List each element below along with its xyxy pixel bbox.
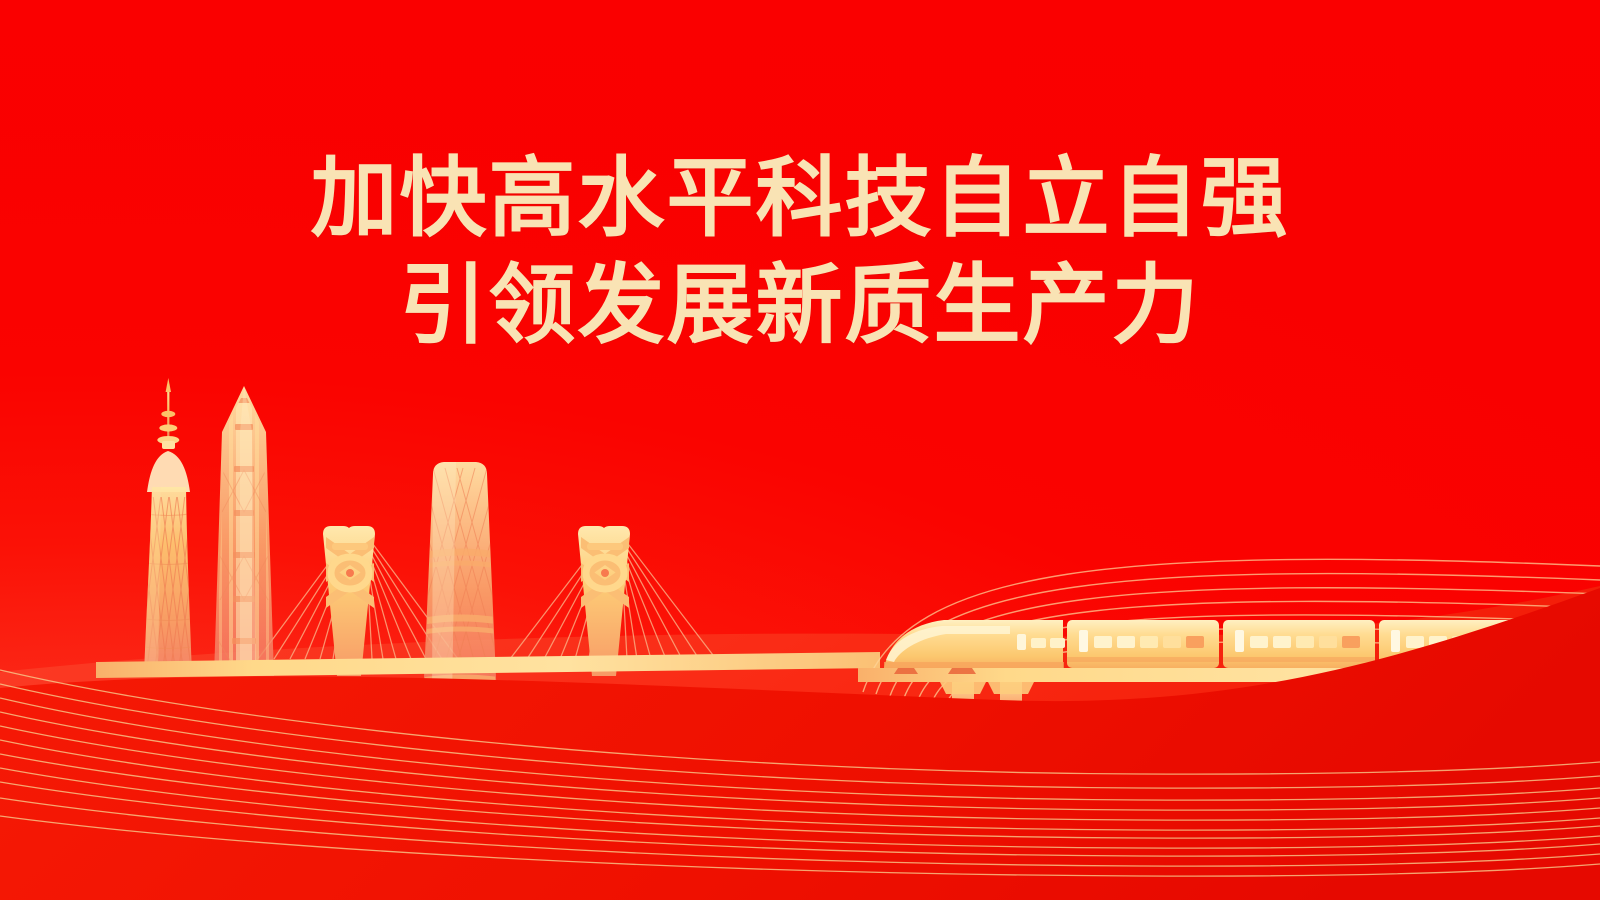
poster-canvas: 加快高水平科技自立自强 引领发展新质生产力 [0, 0, 1600, 900]
ping-an-tower [214, 386, 274, 684]
train-bogie [894, 668, 918, 674]
scene-illustration [0, 0, 1600, 900]
canton-tower-highlight [144, 487, 161, 676]
train-car [1223, 620, 1375, 668]
train-car [1067, 620, 1219, 668]
train-bogie [948, 668, 976, 674]
canton-tower [136, 378, 202, 676]
